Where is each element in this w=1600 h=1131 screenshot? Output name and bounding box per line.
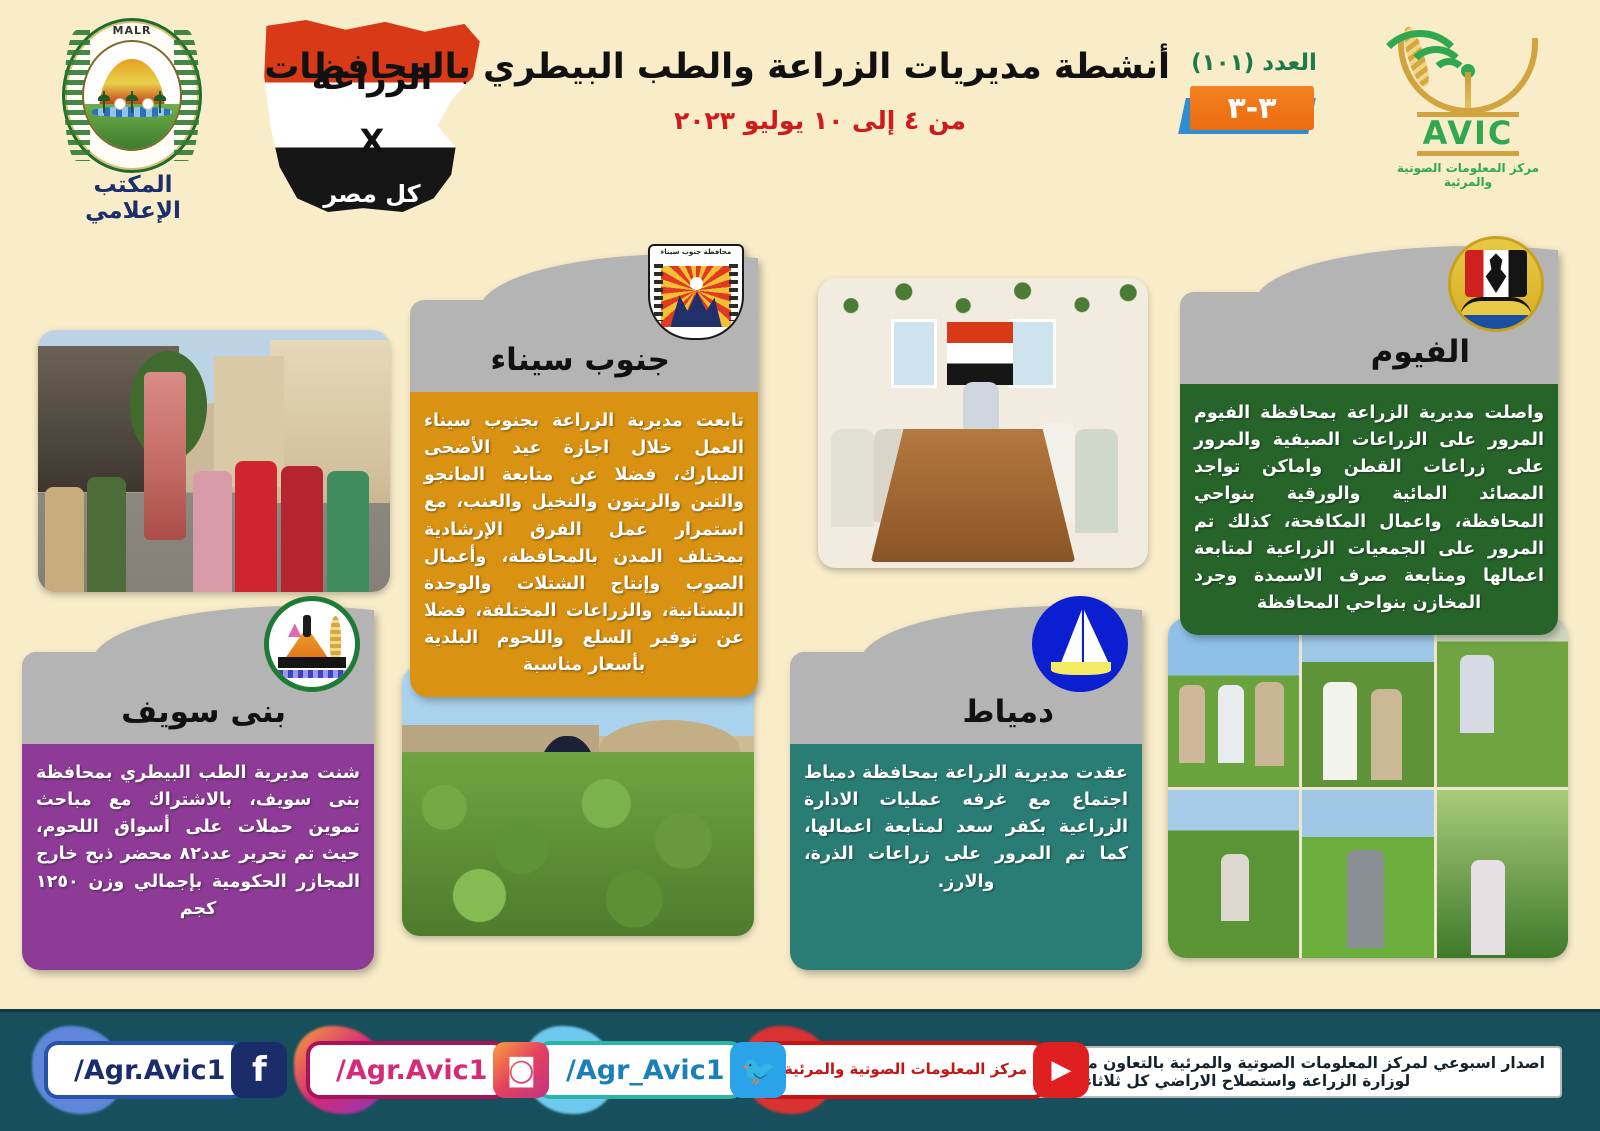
map-label-all-egypt: كل مصر [262, 180, 482, 208]
photo-content [38, 330, 390, 592]
person [193, 471, 232, 592]
signal-arc-inner [1430, 58, 1468, 96]
person [1075, 429, 1118, 533]
egypt-flag-icon [947, 322, 1013, 386]
card-south-sinai[interactable]: محافظة جنوب سيناء جنوب سيناء تابعت مديري… [410, 300, 758, 697]
emblem-disc [264, 596, 360, 692]
avic-subtitle: مركز المعلومات الصوتية والمرئية [1378, 161, 1558, 189]
facebook-icon[interactable]: f [231, 1042, 287, 1098]
south-sinai-emblem: محافظة جنوب سيناء [648, 244, 744, 340]
card-body-text: شنت مديرية الطب البيطري بمحافظة بنى سويف… [22, 744, 374, 970]
pink-sail-icon [288, 623, 302, 637]
plant-icon [127, 91, 136, 113]
damietta-sailboat-emblem [1032, 596, 1128, 692]
person [1218, 685, 1244, 763]
okra-crop [402, 752, 754, 936]
person [1460, 655, 1494, 733]
avic-broadcast-icon [1378, 20, 1558, 112]
malr-logo-text: MALR [62, 24, 202, 37]
card-fayoum[interactable]: الفيوم واصلت مديرية الزراعة بمحافظة الفي… [1180, 292, 1558, 635]
emblem-disc [1032, 596, 1128, 692]
person [281, 466, 323, 592]
photo-meat-market-inspection [38, 330, 390, 592]
statue-icon [303, 615, 311, 637]
laurel-right-icon [729, 264, 738, 321]
governorate-name: الفيوم [1371, 334, 1470, 370]
avic-logo: AVIC مركز المعلومات الصوتية والمرئية [1378, 20, 1558, 180]
media-office-label: المكتب الإعلامي [48, 172, 218, 224]
instagram-icon[interactable]: ◙ [493, 1042, 549, 1098]
twitter-handle[interactable]: /Agr_Avic1 [540, 1045, 740, 1095]
issue-block: العدد (١٠١) ٣-٣ [1180, 50, 1328, 136]
collage-cell [1168, 790, 1299, 959]
youtube-handle[interactable]: مركز المعلومات الصوتية والمرئية [758, 1045, 1043, 1095]
wheat-ear-icon [330, 616, 341, 661]
card-header: بنى سويف [22, 652, 374, 744]
card-damietta[interactable]: دمياط عقدت مديرية الزراعة بمحافظة دمياط … [790, 652, 1142, 970]
person-seated-head [963, 382, 999, 434]
photo-content [818, 278, 1148, 568]
water-waves-icon [278, 670, 347, 679]
person [1221, 854, 1250, 921]
window [1009, 319, 1055, 389]
social-link-facebook[interactable]: f /Agr.Avic1 [48, 1036, 287, 1104]
page-title-block: أنشطة مديريات الزراعة والطب البيطري بالم… [470, 46, 1170, 135]
instagram-handle[interactable]: /Agr.Avic1 [310, 1045, 503, 1095]
boat-hull-icon [1051, 662, 1111, 674]
window [891, 319, 937, 389]
governorate-name: دمياط [962, 694, 1054, 730]
emblem-shield: محافظة جنوب سيناء [648, 244, 744, 340]
vine-decoration [818, 278, 1148, 324]
person [45, 487, 84, 592]
sail-right-icon [1084, 609, 1109, 663]
social-link-twitter[interactable]: 🐦 /Agr_Avic1 [540, 1036, 786, 1104]
card-body-text: تابعت مديرية الزراعة بجنوب سيناء العمل خ… [410, 392, 758, 697]
governorate-name: بنى سويف [121, 694, 286, 730]
issue-part-badge: ٣-٣ [1190, 82, 1318, 136]
laurel-left-icon [654, 264, 663, 321]
social-link-youtube[interactable]: ▶ مركز المعلومات الصوتية والمرئية [758, 1036, 1089, 1104]
map-label-x: X [262, 122, 482, 160]
beni-suef-emblem [264, 596, 360, 692]
governorate-name: جنوب سيناء [490, 342, 670, 378]
emblem-disc [1448, 236, 1544, 332]
header: MALR المكتب الإعلامي الزراعة X كل مصر أن… [0, 0, 1600, 232]
sail-left-icon [1061, 609, 1082, 663]
page-title: أنشطة مديريات الزراعة والطب البيطري بالم… [470, 46, 1170, 90]
meeting-table [871, 429, 1076, 562]
person [1471, 860, 1505, 954]
twitter-icon[interactable]: 🐦 [730, 1042, 786, 1098]
egypt-eagle-emblem [1448, 236, 1544, 332]
emblem-water [1456, 315, 1535, 329]
emblem-title: محافظة جنوب سيناء [650, 248, 742, 256]
photo-operations-room-meeting [818, 278, 1148, 568]
card-body-text: عقدت مديرية الزراعة بمحافظة دمياط اجتماع… [790, 744, 1142, 970]
photo-content [402, 666, 754, 936]
photo-field-inspection-collage [1168, 618, 1568, 958]
logo-inner-disc [82, 40, 182, 151]
footer-bar: f /Agr.Avic1 ◙ /Agr.Avic1 🐦 /Agr_Avic1 ▶… [0, 1009, 1600, 1131]
person [1255, 682, 1284, 766]
infographic-canvas: MALR المكتب الإعلامي الزراعة X كل مصر أن… [0, 0, 1600, 1131]
person [87, 477, 126, 592]
collage-cell [1437, 618, 1568, 787]
photo-okra-field-harvest [402, 666, 754, 936]
person [327, 471, 369, 592]
plant-icon [155, 91, 164, 113]
card-body-text: واصلت مديرية الزراعة بمحافظة الفيوم المر… [1180, 384, 1558, 635]
badge-ribbon: ٣-٣ [1190, 86, 1314, 130]
person [235, 461, 277, 592]
collage-cell [1168, 618, 1299, 787]
collage-cell [1302, 790, 1433, 959]
card-beni-suef[interactable]: بنى سويف شنت مديرية الطب البيطري بمحافظة… [22, 652, 374, 970]
person [1179, 685, 1205, 763]
bridge-icon [278, 657, 347, 668]
plant-icon [99, 91, 108, 113]
youtube-icon[interactable]: ▶ [1033, 1042, 1089, 1098]
person [1347, 850, 1384, 948]
card-header: دمياط [790, 652, 1142, 744]
issue-number-label: العدد (١٠١) [1180, 50, 1328, 76]
person [1371, 689, 1403, 780]
facebook-handle[interactable]: /Agr.Avic1 [48, 1045, 241, 1095]
card-header: الفيوم [1180, 292, 1558, 384]
person [1323, 682, 1357, 780]
person [831, 429, 874, 528]
collage-cell [1302, 618, 1433, 787]
page-date-range: من ٤ إلى ١٠ يوليو ٢٠٢٣ [470, 106, 1170, 135]
collage-cell [1437, 790, 1568, 959]
card-header: محافظة جنوب سيناء جنوب سيناء [410, 300, 758, 392]
malr-ministry-logo: MALR [62, 18, 202, 173]
avic-stem [1465, 72, 1471, 108]
social-link-instagram[interactable]: ◙ /Agr.Avic1 [310, 1036, 549, 1104]
